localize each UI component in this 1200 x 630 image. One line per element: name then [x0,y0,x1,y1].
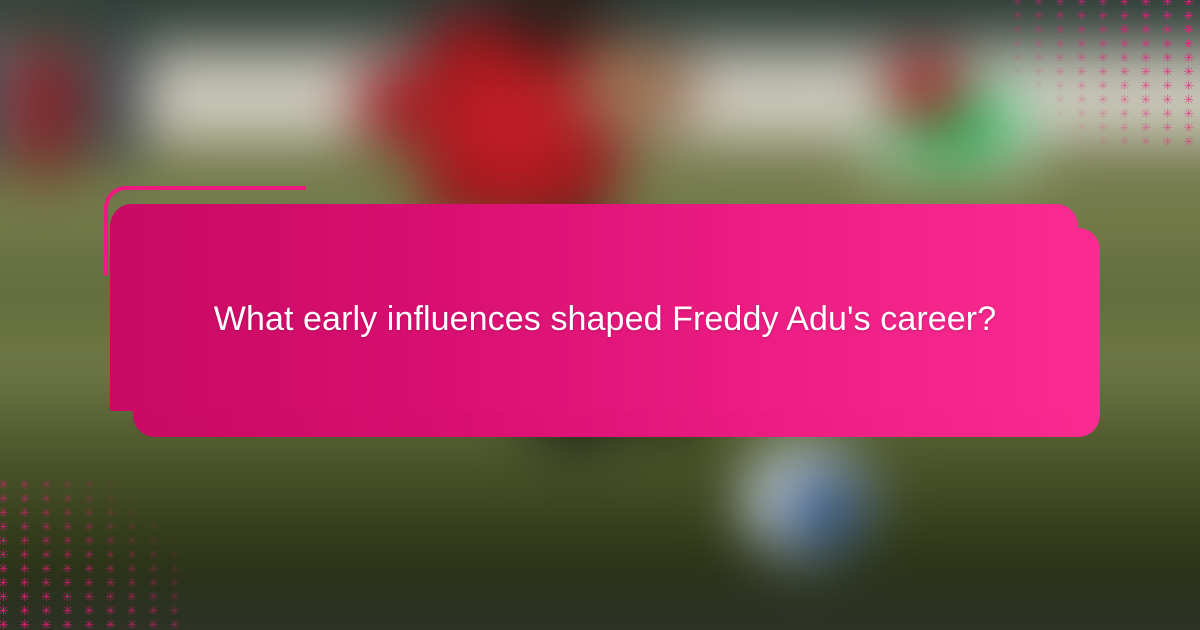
headline-text: What early influences shaped Freddy Adu'… [160,228,1050,411]
headline-card-group: What early influences shaped Freddy Adu'… [0,0,1200,630]
share-card-canvas: ✳ ✳ ✳ ✳ ✳ ✳ ✳ ✳ ✳ ✳ ✳ ✳ ✳ ✳ ✳ ✳ ✳ ✳ ✳ ✳ … [0,0,1200,630]
